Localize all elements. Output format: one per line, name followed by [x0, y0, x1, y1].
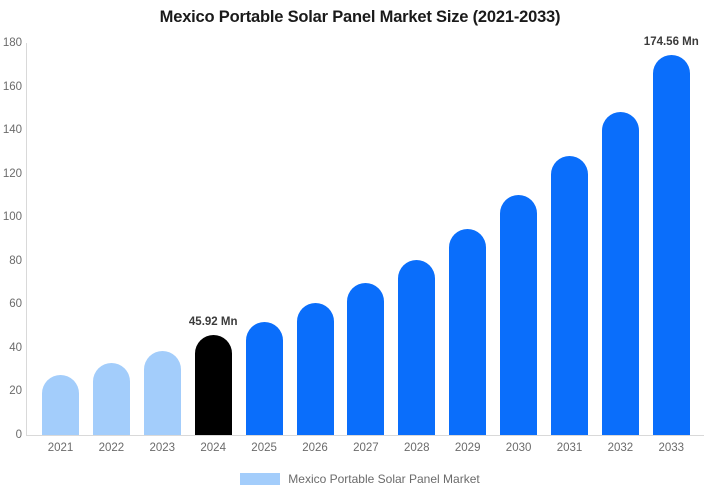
y-axis-tick: 120 [0, 168, 22, 180]
legend-label[interactable]: Mexico Portable Solar Panel Market [288, 472, 479, 486]
chart-title: Mexico Portable Solar Panel Market Size … [0, 8, 720, 27]
bar-2033[interactable] [653, 55, 690, 435]
bar-2023[interactable] [144, 351, 181, 435]
bar-2027[interactable] [347, 283, 384, 435]
bar-2029[interactable] [449, 229, 486, 435]
y-axis-tick: 140 [0, 124, 22, 136]
y-axis-tick: 40 [0, 342, 22, 354]
bar-2030[interactable] [500, 195, 537, 435]
y-axis-tick: 80 [0, 255, 22, 267]
y-axis-tick: 160 [0, 81, 22, 93]
bar-group [500, 43, 537, 435]
bar-2028[interactable] [398, 260, 435, 435]
bar-2031[interactable] [551, 156, 588, 435]
bar-group [42, 43, 79, 435]
bar-group: 45.92 Mn [195, 43, 232, 435]
y-axis-tick: 100 [0, 211, 22, 223]
bar-group [602, 43, 639, 435]
bar-2026[interactable] [297, 303, 334, 435]
bar-2025[interactable] [246, 322, 283, 435]
y-axis-tick: 180 [0, 37, 22, 49]
bar-group [246, 43, 283, 435]
bar-group [93, 43, 130, 435]
bar-group [347, 43, 384, 435]
bar-group [551, 43, 588, 435]
plot-area: 45.92 Mn174.56 Mn [26, 43, 704, 435]
chart-legend: Mexico Portable Solar Panel Market [0, 472, 720, 486]
x-axis-line [26, 435, 704, 436]
bar-value-label: 174.56 Mn [644, 36, 699, 48]
x-axis-tick: 2033 [641, 442, 701, 454]
y-axis-tick: 20 [0, 385, 22, 397]
bar-2032[interactable] [602, 112, 639, 435]
bar-group [449, 43, 486, 435]
bar-group [398, 43, 435, 435]
bar-group [297, 43, 334, 435]
bar-group [144, 43, 181, 435]
y-axis: 020406080100120140160180 [0, 0, 22, 500]
bar-2024[interactable] [195, 335, 232, 435]
bar-2022[interactable] [93, 363, 130, 435]
bar-group: 174.56 Mn [653, 43, 690, 435]
bar-2021[interactable] [42, 375, 79, 435]
legend-swatch[interactable] [240, 473, 280, 485]
y-axis-tick: 60 [0, 298, 22, 310]
bar-chart: Mexico Portable Solar Panel Market Size … [0, 0, 720, 500]
y-axis-tick: 0 [0, 429, 22, 441]
bar-value-label: 45.92 Mn [189, 316, 238, 328]
